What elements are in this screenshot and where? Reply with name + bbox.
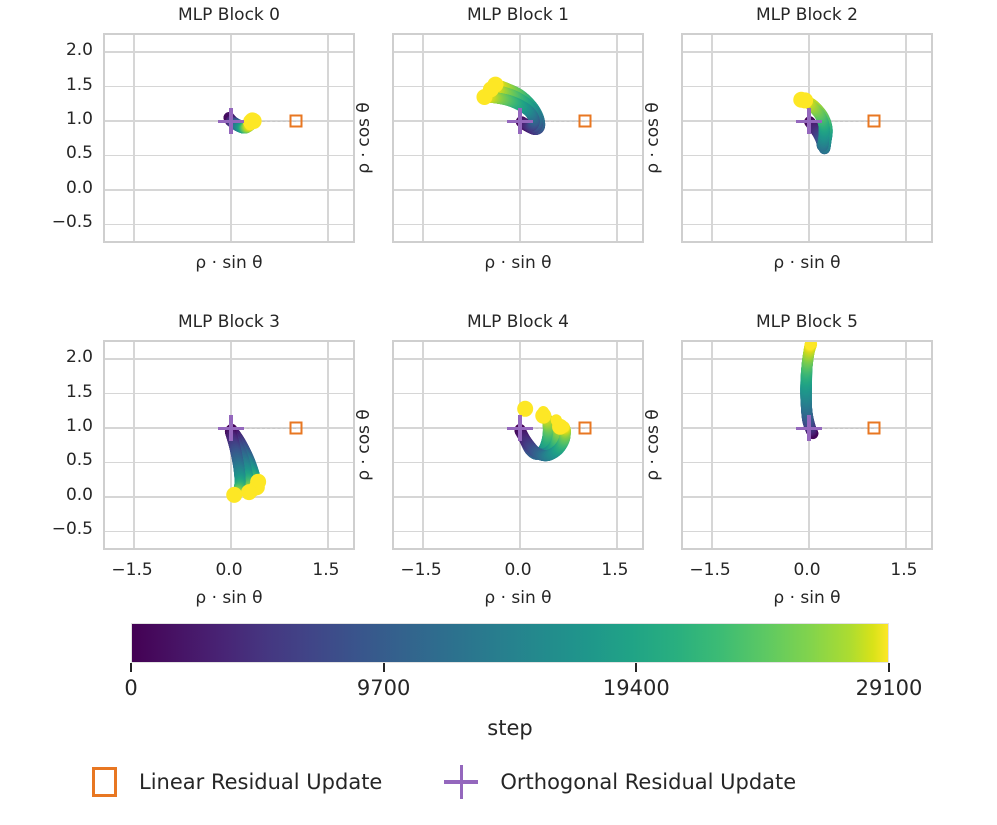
axes-area-2 <box>681 33 933 243</box>
x-axis-label-5: ρ · sin θ <box>773 588 840 608</box>
figure-canvas: MLP Block 02.01.51.00.50.0−0.5ρ · cos θρ… <box>0 0 997 825</box>
axes-area-1 <box>392 33 644 243</box>
axes-area-5 <box>681 340 933 550</box>
colorbar-tick-label-0: 0 <box>124 676 137 700</box>
panel-title-3: MLP Block 3 <box>103 312 355 332</box>
colorbar-gradient <box>131 623 889 663</box>
colorbar-tick-1 <box>383 663 385 672</box>
trajectory-layer-0 <box>105 35 353 241</box>
legend-entry-1[interactable]: Orthogonal Residual Update <box>444 765 796 799</box>
axes-area-3 <box>103 340 355 550</box>
trajectory-layer-4 <box>394 342 642 548</box>
y-axis-label-4: ρ · cos θ <box>354 409 374 480</box>
subplot-panel-3: MLP Block 3 <box>103 340 355 550</box>
linear-residual-update-marker <box>867 422 880 435</box>
trajectory-layer-5 <box>683 342 931 548</box>
x-axis-label-1: ρ · sin θ <box>484 253 551 273</box>
plot-surface-5 <box>683 342 931 548</box>
trajectory-layer-1 <box>394 35 642 241</box>
xtick-label-3-2: 1.5 <box>312 560 339 580</box>
y-axis-label-2: ρ · cos θ <box>643 102 663 173</box>
orthogonal-residual-update-marker <box>218 108 244 134</box>
orthogonal-residual-update-marker <box>796 108 822 134</box>
legend-entry-0[interactable]: Linear Residual Update <box>92 767 382 797</box>
orthogonal-residual-update-marker <box>218 415 244 441</box>
trajectory-layer-3 <box>105 342 353 548</box>
ytick-label-3-3: 0.5 <box>11 450 93 470</box>
xtick-label-4-0: −1.5 <box>400 560 441 580</box>
colorbar-axis-label: step <box>487 716 532 740</box>
linear-residual-update-marker <box>578 422 591 435</box>
ytick-label-0-5: −0.5 <box>11 212 93 232</box>
colorbar-tick-label-2: 19400 <box>603 676 670 700</box>
panel-title-1: MLP Block 1 <box>392 5 644 25</box>
colorbar <box>131 623 889 663</box>
ytick-label-0-0: 2.0 <box>11 40 93 60</box>
panel-title-0: MLP Block 0 <box>103 5 355 25</box>
legend-label-1: Orthogonal Residual Update <box>500 770 796 794</box>
xtick-label-4-1: 0.0 <box>504 560 531 580</box>
subplot-panel-0: MLP Block 0 <box>103 33 355 243</box>
panel-title-5: MLP Block 5 <box>681 312 933 332</box>
axes-area-4 <box>392 340 644 550</box>
colorbar-tick-2 <box>635 663 637 672</box>
ytick-label-3-2: 1.0 <box>11 416 93 436</box>
orthogonal-residual-update-marker <box>796 415 822 441</box>
y-axis-label-5: ρ · cos θ <box>643 409 663 480</box>
linear-residual-update-marker <box>289 422 302 435</box>
xtick-label-3-1: 0.0 <box>215 560 242 580</box>
orthogonal-residual-update-marker <box>507 108 533 134</box>
subplot-panel-2: MLP Block 2 <box>681 33 933 243</box>
orthogonal-residual-update-marker <box>507 415 533 441</box>
plot-surface-3 <box>105 342 353 548</box>
x-axis-label-3: ρ · sin θ <box>195 588 262 608</box>
plot-surface-2 <box>683 35 931 241</box>
ytick-label-3-0: 2.0 <box>11 347 93 367</box>
linear-residual-update-marker <box>867 115 880 128</box>
panel-title-4: MLP Block 4 <box>392 312 644 332</box>
panel-title-2: MLP Block 2 <box>681 5 933 25</box>
colorbar-tick-label-3: 29100 <box>856 676 923 700</box>
xtick-label-3-0: −1.5 <box>111 560 152 580</box>
plot-surface-0 <box>105 35 353 241</box>
ytick-label-0-2: 1.0 <box>11 109 93 129</box>
subplot-panel-4: MLP Block 4 <box>392 340 644 550</box>
xtick-label-4-2: 1.5 <box>601 560 628 580</box>
trajectory-layer-2 <box>683 35 931 241</box>
axes-area-0 <box>103 33 355 243</box>
subplot-panel-1: MLP Block 1 <box>392 33 644 243</box>
legend-plus-icon <box>444 765 478 799</box>
xtick-label-5-0: −1.5 <box>689 560 730 580</box>
ytick-label-0-4: 0.0 <box>11 178 93 198</box>
ytick-label-3-4: 0.0 <box>11 485 93 505</box>
plot-surface-4 <box>394 342 642 548</box>
legend-label-0: Linear Residual Update <box>139 770 382 794</box>
x-axis-label-0: ρ · sin θ <box>195 253 262 273</box>
x-axis-label-2: ρ · sin θ <box>773 253 840 273</box>
xtick-label-5-1: 0.0 <box>793 560 820 580</box>
colorbar-tick-3 <box>888 663 890 672</box>
plot-surface-1 <box>394 35 642 241</box>
ytick-label-3-5: −0.5 <box>11 519 93 539</box>
x-axis-label-4: ρ · sin θ <box>484 588 551 608</box>
linear-residual-update-marker <box>289 115 302 128</box>
figure-legend: Linear Residual UpdateOrthogonal Residua… <box>92 765 796 799</box>
xtick-label-5-2: 1.5 <box>890 560 917 580</box>
colorbar-tick-0 <box>130 663 132 672</box>
colorbar-tick-label-1: 9700 <box>357 676 410 700</box>
y-axis-label-1: ρ · cos θ <box>354 102 374 173</box>
subplot-panel-5: MLP Block 5 <box>681 340 933 550</box>
ytick-label-3-1: 1.5 <box>11 382 93 402</box>
legend-square-icon <box>92 767 117 797</box>
linear-residual-update-marker <box>578 115 591 128</box>
ytick-label-0-1: 1.5 <box>11 75 93 95</box>
ytick-label-0-3: 0.5 <box>11 143 93 163</box>
